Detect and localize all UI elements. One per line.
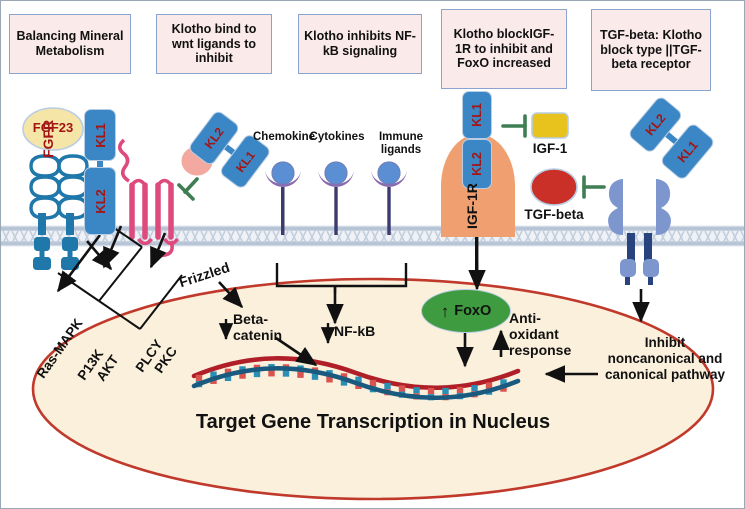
tgf-beta-label: TGF-beta xyxy=(517,207,591,223)
callout-balancing-mineral-metabolism[interactable]: Balancing Mineral Metabolism xyxy=(9,14,131,74)
inhibit-pathway-label: Inhibit noncanonical and canonical pathw… xyxy=(589,335,741,384)
diagram-canvas: Balancing Mineral Metabolism Klotho bind… xyxy=(0,0,745,509)
callout-klotho-block-igf1r[interactable]: Klotho blockIGF-1R to inhibit and FoxO i… xyxy=(441,9,567,89)
nfkb-label: NF-kB xyxy=(334,323,375,339)
igf1-shape xyxy=(532,113,568,138)
beta-catenin-label: Beta- catenin xyxy=(233,312,282,344)
callout-klotho-inhibits-nfkb[interactable]: Klotho inhibits NF-kB signaling xyxy=(298,14,422,74)
cytokine-receptors xyxy=(265,162,407,235)
kl1-fgfr-token: KL1 xyxy=(84,109,116,161)
foxo-label: FoxO xyxy=(454,303,491,319)
fgfr-label: FGFR xyxy=(40,98,58,158)
inhibit-igf1 xyxy=(503,116,525,136)
igf1r-label: IGF-1R xyxy=(464,149,482,229)
kl2-fgfr-token: KL2 xyxy=(84,167,116,235)
antioxidant-response-label: Anti- oxidant response xyxy=(509,310,571,359)
kl1-igf1r-token: KL1 xyxy=(462,91,492,139)
igf1-label: IGF-1 xyxy=(525,141,575,157)
callout-tgf-beta-receptor[interactable]: TGF-beta: Klotho block type ||TGF-beta r… xyxy=(591,9,711,91)
foxo-up-arrow-icon: ↑ xyxy=(441,303,450,320)
tgf-beta-shape xyxy=(531,169,577,205)
inhibit-tgfbeta xyxy=(584,177,604,197)
nucleus-title: Target Gene Transcription in Nucleus xyxy=(133,411,613,434)
immune-ligands-label: Immune ligands xyxy=(359,131,443,157)
callout-klotho-bind-wnt[interactable]: Klotho bind to wnt ligands to inhibit xyxy=(156,14,272,74)
foxo-node: ↑ FoxO xyxy=(421,289,511,333)
